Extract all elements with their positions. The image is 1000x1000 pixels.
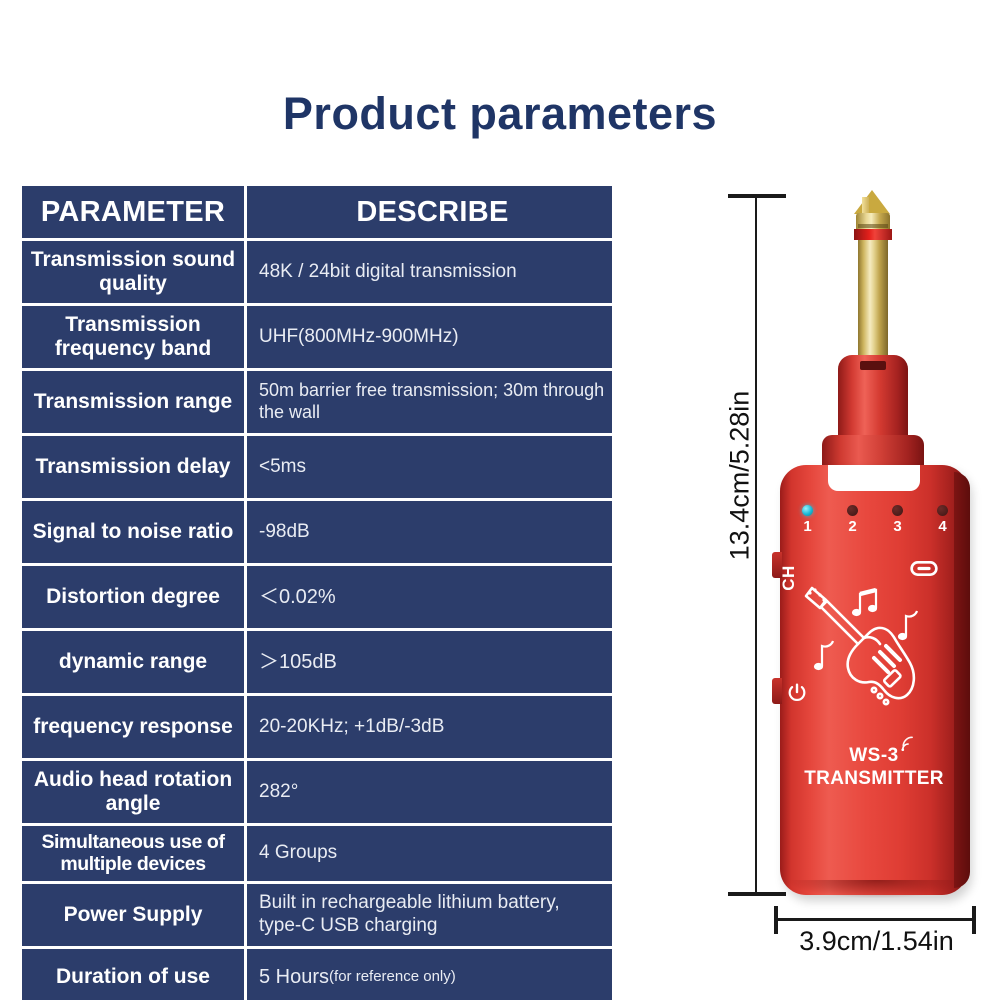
table-row: Simultaneous use of multiple devices 4 G… [22,826,612,881]
row-parameter: Power Supply [22,884,244,946]
row-parameter: Transmission frequency band [22,306,244,368]
device-bottom-shadow [788,880,966,898]
row-describe: 50m barrier free transmission; 30m throu… [247,371,612,433]
led-label: 4 [938,519,946,534]
led-label: 3 [893,519,901,534]
device-body-edge-shadow [954,472,970,888]
led-indicator-1: 1 [802,505,813,534]
row-parameter: Transmission sound quality [22,241,244,303]
led-label: 1 [803,519,811,534]
header-parameter: PARAMETER [22,186,244,238]
row-parameter: Simultaneous use of multiple devices [22,826,244,881]
page-title: Product parameters [0,88,1000,140]
row-describe: -98dB [247,501,612,563]
row-parameter: frequency response [22,696,244,758]
product-illustration: 13.4cm/5.28in 1 [680,160,1000,960]
jack-plug-tip [854,190,890,214]
device-top-notch [828,465,920,491]
jack-plug-shaft [858,240,888,358]
table-row: dynamic range ＞105dB [22,631,612,693]
row-parameter: Transmission range [22,371,244,433]
table-row: Transmission delay <5ms [22,436,612,498]
width-dimension: 3.9cm/1.54in [768,902,983,962]
duration-value: 5 Hours [259,965,329,989]
row-describe: 4 Groups [247,826,612,881]
table-row: Distortion degree ＜0.02% [22,566,612,628]
jack-plug-red-band [854,229,892,240]
guitar-icon [796,578,946,718]
model-name: WS-3 [849,745,899,767]
led-indicator-2: 2 [847,505,858,534]
row-describe: 282° [247,761,612,823]
led-dot-icon [847,505,858,516]
device-type-label: TRANSMITTER [780,768,968,790]
row-describe: 48K / 24bit digital transmission [247,241,612,303]
jack-plug-base-slot [860,361,886,370]
table-row: Audio head rotation angle 282° [22,761,612,823]
row-describe: 20-20KHz; +1dB/-3dB [247,696,612,758]
header-describe: DESCRIBE [247,186,612,238]
row-describe: UHF(800MHz-900MHz) [247,306,612,368]
table-row: Transmission range 50m barrier free tran… [22,371,612,433]
ws3-transmitter-device: 1 2 3 4 CH [758,180,988,895]
table-row: Duration of use 5 Hours (for reference o… [22,949,612,1000]
row-describe: Built in rechargeable lithium battery, t… [247,884,612,946]
led-label: 2 [848,519,856,534]
row-parameter: Distortion degree [22,566,244,628]
duration-note: (for reference only) [329,968,456,986]
led-dot-icon [937,505,948,516]
led-indicator-row: 1 2 3 4 [802,505,948,534]
row-describe: <5ms [247,436,612,498]
row-parameter: Transmission delay [22,436,244,498]
led-indicator-4: 4 [937,505,948,534]
led-dot-icon [802,505,813,516]
table-row: Power Supply Built in rechargeable lithi… [22,884,612,946]
table-header-row: PARAMETER DESCRIBE [22,186,612,238]
row-describe: 5 Hours (for reference only) [247,949,612,1000]
width-dimension-label: 3.9cm/1.54in [754,926,999,957]
power-button[interactable] [772,678,782,704]
usb-c-port-icon [910,560,938,577]
table-row: frequency response 20-20KHz; +1dB/-3dB [22,696,612,758]
table-row: Transmission frequency band UHF(800MHz-9… [22,306,612,368]
spec-table: PARAMETER DESCRIBE Transmission sound qu… [22,186,612,1000]
row-parameter: Audio head rotation angle [22,761,244,823]
width-dimension-line [776,918,976,921]
row-parameter: Duration of use [22,949,244,1000]
led-indicator-3: 3 [892,505,903,534]
row-parameter: Signal to noise ratio [22,501,244,563]
model-name-text: WS-3 [849,745,899,766]
wireless-signal-icon [900,736,918,752]
row-describe: ＞105dB [247,631,612,693]
jack-plug-tip-highlight [862,197,869,214]
row-parameter: dynamic range [22,631,244,693]
product-parameters-page: Product parameters PARAMETER DESCRIBE Tr… [0,0,1000,1000]
table-row: Transmission sound quality 48K / 24bit d… [22,241,612,303]
row-describe: ＜0.02% [247,566,612,628]
led-dot-icon [892,505,903,516]
jack-plug-groove [858,224,888,228]
table-row: Signal to noise ratio -98dB [22,501,612,563]
brand-marking: WS-3 TRANSMITTER [780,745,968,790]
height-dimension-label: 13.4cm/5.28in [725,376,756,576]
